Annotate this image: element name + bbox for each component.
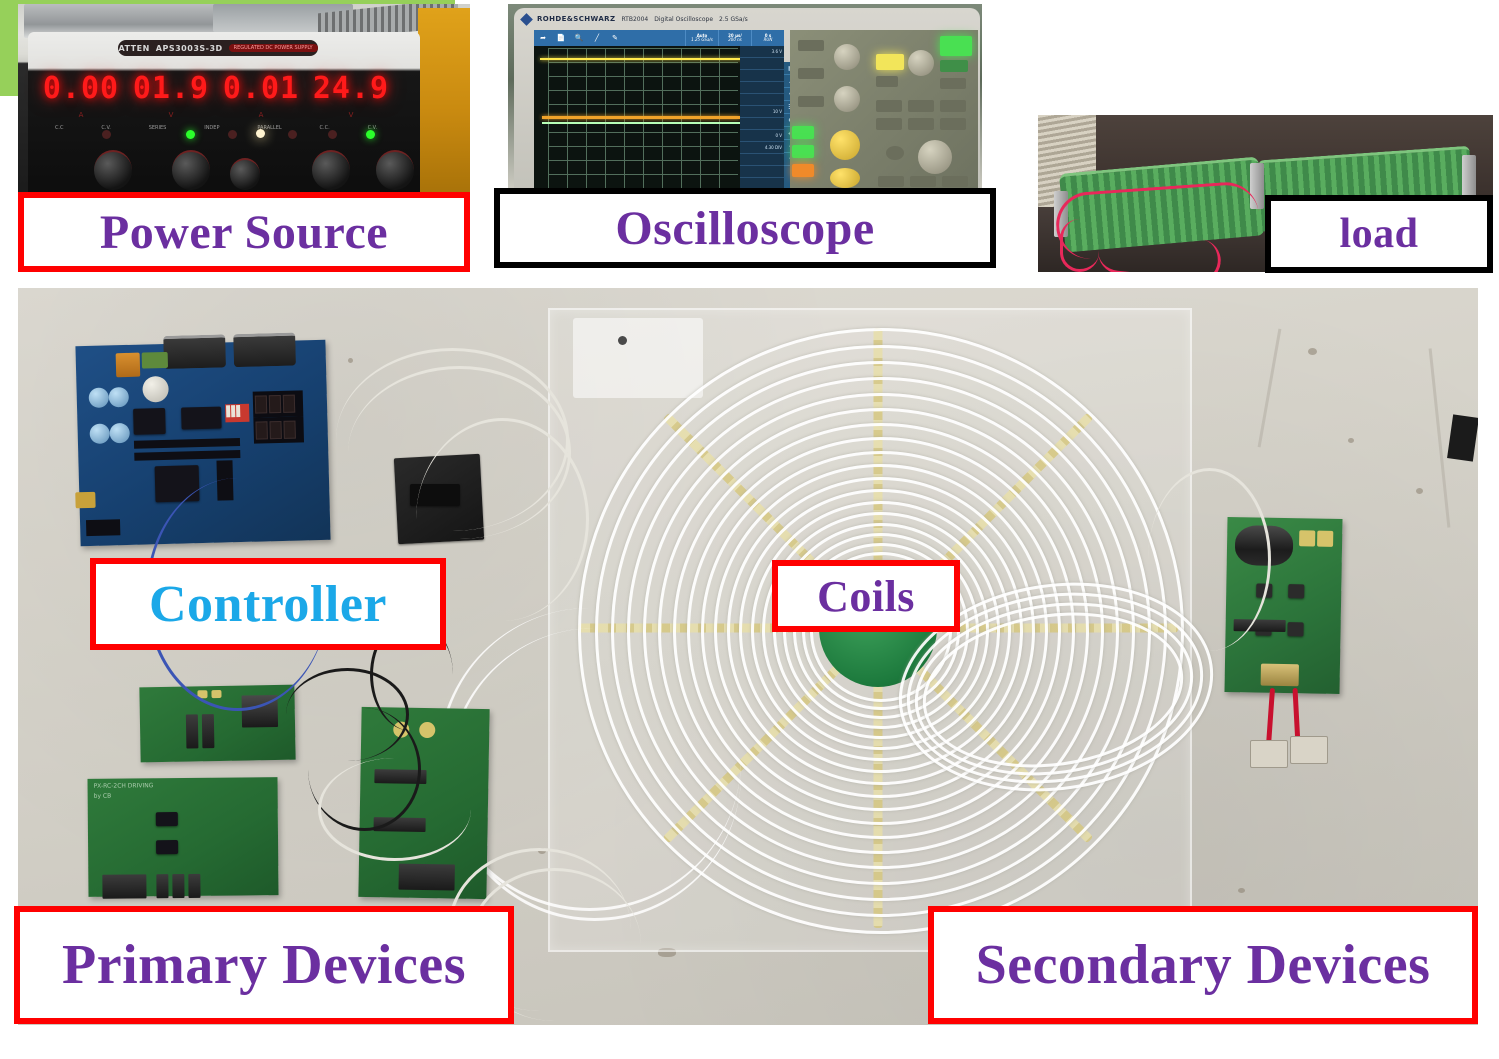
heatsink (202, 714, 215, 748)
surface-speck (1348, 438, 1354, 443)
scope-side-row[interactable] (740, 70, 784, 82)
caption-primary-devices: Primary Devices (14, 906, 514, 1024)
scope-brand: ROHDE&SCHWARZ (537, 15, 615, 23)
oscilloscope-image: ROHDE&SCHWARZ RTB2004 Digital Oscillosco… (508, 4, 982, 192)
indicator-leds (36, 130, 396, 142)
display-unit-2: V (169, 111, 174, 119)
heatsink (156, 874, 168, 898)
trigger-level-knob[interactable] (908, 50, 934, 76)
file-tool-icon[interactable]: 📄 (552, 30, 570, 46)
display-value-1: 0.00 (43, 71, 119, 106)
horizontal-scale-knob[interactable] (834, 44, 860, 70)
db9-connector-1 (163, 334, 226, 369)
caption-controller: Controller (90, 558, 446, 650)
output-connector (1261, 664, 1299, 687)
pin-header-bottom (86, 519, 120, 536)
display-value-2: 01.9 (133, 71, 209, 106)
heatsink-block (398, 864, 454, 891)
surface-speck (1238, 888, 1245, 893)
navigation-knob[interactable] (918, 140, 952, 174)
caption-load: load (1265, 195, 1493, 273)
heatsink (188, 874, 200, 898)
mcu-chip (181, 407, 222, 430)
scope-front-panel[interactable] (790, 30, 978, 188)
board-silkscreen: PX-RC-2CH DRIVING (94, 782, 154, 790)
horizontal-position-knob[interactable] (834, 86, 860, 112)
scope-top-value-1: Auto 1.25 GSa/s (685, 30, 718, 46)
caption-secondary-devices: Secondary Devices (928, 906, 1478, 1024)
white-power-cable (318, 758, 471, 861)
heatsink (172, 874, 184, 898)
scope-side-row[interactable]: 4.30 DIV (740, 142, 784, 154)
led-display: 0.00 01.9 0.01 24.9 (36, 66, 396, 110)
diode (1288, 584, 1304, 598)
utility-button-1[interactable] (878, 176, 904, 187)
knob-voltage-right[interactable] (376, 150, 414, 190)
zoom-tool-icon[interactable]: 🔍 (570, 30, 588, 46)
crystal-oscillator (142, 376, 169, 403)
wooden-cabinet (418, 8, 470, 196)
analysis-button-3[interactable] (940, 100, 966, 112)
heatsink (186, 714, 199, 748)
edit-tool-icon[interactable]: ✎ (606, 30, 624, 46)
power-source-photo: ATTEN APS3003S-3D REGULATED DC POWER SUP… (18, 4, 470, 196)
caption-power-source: Power Source (18, 192, 470, 272)
led-parallel (288, 130, 297, 139)
surface-speck (1308, 348, 1317, 355)
seven-segment-display (253, 390, 304, 417)
utility-button-2[interactable] (910, 176, 936, 187)
power-supply-brand-bar: ATTEN APS3003S-3D REGULATED DC POWER SUP… (118, 40, 318, 56)
channel-2-button[interactable] (792, 145, 814, 158)
power-supply-subtitle: REGULATED DC POWER SUPPLY (229, 44, 318, 52)
surface-speck (1416, 488, 1423, 494)
analysis-button-1[interactable] (876, 100, 902, 112)
seg-digit (255, 395, 267, 413)
cursor-tool-icon[interactable]: ➦ (534, 30, 552, 46)
scope-side-row[interactable] (740, 94, 784, 106)
led-cv-left (186, 130, 195, 139)
scope-side-menu[interactable]: 3.6 V 10 V 0 V 4.30 DIV ▦ ➚ ∿ ☰ ⚙ ⏛ (740, 46, 784, 188)
scope-menu-bar[interactable]: ➦ 📄 🔍 ╱ ✎ Auto 1.25 GSa/s 20 µs/ 200 ns … (534, 30, 784, 46)
led-cc-right (328, 130, 337, 139)
scope-model: RTB2004 (621, 16, 648, 23)
opto-isolator (156, 812, 178, 826)
seg-digit (269, 421, 281, 439)
power-terminal (142, 352, 168, 369)
scope-top-value-3: 0 s RUN (751, 30, 784, 46)
board-silkscreen-2: by CB (94, 793, 112, 800)
scope-side-row[interactable] (740, 166, 784, 178)
run-stop-button[interactable] (940, 36, 972, 56)
pin-header-row-1 (134, 438, 240, 449)
mode-button[interactable] (940, 78, 966, 89)
rohde-schwarz-logo-icon (520, 13, 533, 26)
scope-top-values: Auto 1.25 GSa/s 20 µs/ 200 ns 0 s RUN (685, 30, 784, 46)
display-value-3: 0.01 (223, 71, 299, 106)
back-button[interactable] (886, 146, 904, 160)
dip-switch-pin[interactable] (226, 405, 230, 417)
scope-side-row[interactable] (740, 154, 784, 166)
measure-tool-icon[interactable]: ╱ (588, 30, 606, 46)
led-indep (256, 129, 265, 138)
display-unit-4: V (349, 111, 354, 119)
electrolytic-capacitor (109, 387, 130, 408)
power-source-image: ATTEN APS3003S-3D REGULATED DC POWER SUP… (18, 4, 470, 196)
horizontal-button-2[interactable] (798, 68, 824, 79)
resolution: 200 ns (728, 38, 742, 42)
electrolytic-capacitor (109, 423, 130, 444)
knob-current-right[interactable] (312, 150, 350, 190)
scope-side-row[interactable] (740, 118, 784, 130)
scope-type: Digital Oscilloscope (654, 16, 713, 23)
heatsink-block (102, 874, 146, 898)
channel-1-button[interactable] (792, 126, 814, 139)
ic-chip-1 (133, 408, 166, 435)
single-button[interactable] (940, 60, 968, 72)
scope-sample-rate: 2.5 GSa/s (719, 16, 748, 23)
seg-digit (269, 395, 281, 413)
wire-connector-1 (1250, 740, 1288, 768)
analysis-button-4[interactable] (876, 118, 902, 130)
display-unit-3: A (259, 111, 264, 119)
output-terminal (1299, 530, 1315, 546)
display-value-4: 24.9 (313, 71, 389, 106)
scope-brand-bar: ROHDE&SCHWARZ RTB2004 Digital Oscillosco… (522, 12, 812, 26)
receiver-cable (1148, 468, 1271, 651)
screw-terminal (75, 492, 95, 509)
scope-side-row[interactable]: 0 V (740, 130, 784, 142)
scope-side-row[interactable] (740, 82, 784, 94)
surface-speck (348, 358, 353, 363)
diode (1287, 622, 1303, 636)
knob-mode-select[interactable] (230, 158, 260, 190)
opto-isolator (156, 840, 178, 854)
display-unit-1: A (79, 111, 84, 119)
horizontal-button-1[interactable] (798, 40, 824, 51)
analysis-button-6[interactable] (940, 118, 966, 130)
dip-switch-pin[interactable] (231, 405, 235, 417)
vertical-scale-knob[interactable] (830, 130, 860, 160)
seg-digit (255, 421, 267, 439)
oscilloscope-photo: ROHDE&SCHWARZ RTB2004 Digital Oscillosco… (508, 4, 982, 192)
dip-switch (225, 404, 249, 423)
led-cc-left (102, 130, 111, 139)
scope-side-row[interactable]: 10 V (740, 106, 784, 118)
pin-header-row-2 (134, 450, 240, 461)
scope-trace-channel-2 (542, 116, 740, 119)
sample-rate-readout: 1.25 GSa/s (691, 38, 713, 42)
db9-connector-2 (233, 333, 296, 368)
seg-digit (283, 421, 295, 439)
horizontal-button-3[interactable] (798, 96, 824, 107)
connector-strip (1447, 414, 1478, 461)
analysis-button-2[interactable] (908, 100, 934, 112)
vertical-position-knob[interactable] (830, 168, 860, 188)
dip-switch-pin[interactable] (236, 405, 240, 417)
electrolytic-capacitor (89, 387, 110, 408)
power-supply-brand: ATTEN (118, 44, 149, 53)
power-supply-model: APS3003S-3D (156, 44, 223, 53)
electrolytic-capacitor (89, 423, 110, 444)
led-cv-right (366, 130, 375, 139)
scope-side-row[interactable]: 3.6 V (740, 46, 784, 58)
control-knobs (32, 142, 402, 196)
transformer-block (116, 353, 141, 378)
scope-trace-channel-1 (540, 58, 745, 60)
wire-connector-2 (1290, 736, 1328, 764)
seven-segment-display-2 (253, 416, 304, 443)
scope-trace-cursor-line (542, 122, 740, 124)
led-series (228, 130, 237, 139)
analysis-button-5[interactable] (908, 118, 934, 130)
seg-digit (283, 395, 295, 413)
primary-driver-board-2: PX-RC-2CH DRIVING by CB (87, 777, 278, 897)
knob-voltage-left[interactable] (172, 150, 210, 190)
output-terminal (1317, 531, 1333, 547)
run-state: RUN (764, 38, 773, 42)
display-units: A V A V (36, 110, 396, 120)
channel-3-button[interactable] (792, 164, 814, 177)
knob-current-left[interactable] (94, 150, 132, 190)
scope-side-row[interactable] (740, 58, 784, 70)
caption-coils: Coils (772, 560, 960, 632)
trigger-button[interactable] (876, 54, 904, 70)
red-lead-wire-2 (1060, 219, 1099, 272)
caption-oscilloscope: Oscilloscope (494, 188, 996, 268)
utility-button-3[interactable] (942, 176, 968, 187)
scope-top-value-2: 20 µs/ 200 ns (718, 30, 751, 46)
scope-screen[interactable]: ➦ 📄 🔍 ╱ ✎ Auto 1.25 GSa/s 20 µs/ 200 ns … (534, 30, 784, 188)
auto-button[interactable] (876, 76, 898, 87)
